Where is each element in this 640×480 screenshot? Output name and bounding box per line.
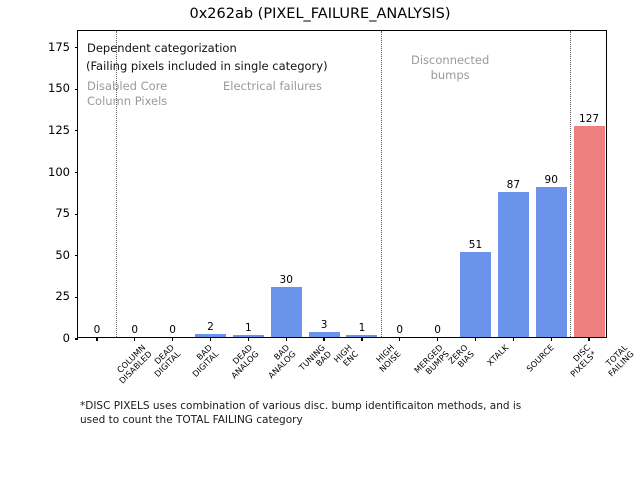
annotation-disabled-core-column-pixels: Disabled Core Column Pixels (87, 79, 167, 108)
category-separator (381, 31, 382, 337)
y-tick-mark (75, 255, 79, 256)
plot-area: 0255075100125150175 COLUMN DISABLEDDEAD … (77, 30, 607, 338)
bar-value-label: 87 (507, 179, 520, 191)
bar-value-label: 0 (396, 324, 403, 336)
x-tick-label: DEAD ANALOG (223, 343, 260, 380)
category-separator (116, 31, 117, 337)
x-tick-mark (286, 337, 287, 341)
x-tick-label: HIGH NOISE (371, 343, 402, 374)
y-tick-mark (75, 130, 79, 131)
annotation-disconnected-bumps: Disconnected bumps (411, 53, 489, 82)
x-tick-mark (475, 337, 476, 341)
x-tick-mark (361, 337, 362, 341)
x-tick-mark (134, 337, 135, 341)
bar: 2 (195, 334, 226, 337)
y-tick-mark (75, 297, 79, 298)
y-tick-label: 125 (48, 123, 70, 137)
x-tick-mark (210, 337, 211, 341)
x-tick-label: BAD DIGITAL (184, 343, 220, 379)
y-tick-label: 50 (55, 248, 70, 262)
annotation-dependent-categorization: Dependent categorization (87, 41, 237, 56)
bar-value-label: 127 (579, 113, 599, 125)
x-tick-mark (588, 337, 589, 341)
bar: 51 (460, 252, 491, 337)
x-tick-mark (323, 337, 324, 341)
footnote-text: *DISC PIXELS uses combination of various… (80, 400, 580, 428)
x-tick-label: DEAD DIGITAL (146, 343, 182, 379)
bar: 3 (309, 332, 340, 337)
y-tick-label: 25 (55, 289, 70, 303)
y-tick-label: 175 (48, 40, 70, 54)
x-tick-label: TOTAL FAILING (600, 343, 635, 378)
annotation-failing-pixels-note: (Failing pixels included in single categ… (86, 59, 328, 74)
x-tick-label: MERGED BUMPS (412, 343, 450, 381)
bar: 1 (233, 335, 264, 337)
annotation-electrical-failures: Electrical failures (223, 79, 322, 94)
bar-value-label: 51 (469, 239, 482, 251)
bar: 30 (271, 287, 302, 337)
x-tick-mark (96, 337, 97, 341)
y-tick-label: 0 (63, 331, 70, 345)
bar-value-label: 90 (545, 174, 558, 186)
x-tick-mark (172, 337, 173, 341)
bar: 87 (498, 192, 529, 337)
bar: 127 (574, 126, 605, 337)
y-tick-mark (75, 338, 79, 339)
y-tick-label: 75 (55, 206, 70, 220)
bar-value-label: 1 (245, 322, 252, 334)
y-tick-mark (75, 89, 79, 90)
y-tick-label: 150 (48, 81, 70, 95)
x-tick-mark (551, 337, 552, 341)
y-tick-mark (75, 214, 79, 215)
x-tick-label: DISC PIXELS* (563, 343, 599, 379)
bar-value-label: 0 (94, 324, 101, 336)
y-tick-mark (75, 47, 79, 48)
bar-value-label: 0 (434, 324, 441, 336)
page-title: 0x262ab (PIXEL_FAILURE_ANALYSIS) (0, 6, 640, 22)
x-tick-label: SOURCE (525, 343, 556, 374)
bar-value-label: 0 (169, 324, 176, 336)
bar-value-label: 0 (131, 324, 138, 336)
bar-value-label: 1 (359, 322, 366, 334)
pixel-failure-analysis-figure: 0x262ab (PIXEL_FAILURE_ANALYSIS) Number … (0, 0, 640, 480)
x-tick-label: HIGH ENC (332, 343, 360, 371)
y-tick-label: 100 (48, 165, 70, 179)
x-tick-label: XTALK (485, 343, 510, 368)
bar: 90 (536, 187, 567, 337)
x-tick-mark (437, 337, 438, 341)
x-tick-mark (513, 337, 514, 341)
y-tick-mark (75, 172, 79, 173)
x-tick-label: BAD ANALOG (261, 343, 298, 380)
x-tick-mark (248, 337, 249, 341)
bar-value-label: 3 (321, 319, 328, 331)
bar-value-label: 30 (280, 274, 293, 286)
x-tick-mark (399, 337, 400, 341)
bar: 1 (346, 335, 377, 337)
category-separator (570, 31, 571, 337)
x-tick-label: ZERO BIAS (446, 343, 475, 372)
x-tick-label: TUNING BAD (298, 343, 334, 379)
bar-value-label: 2 (207, 321, 214, 333)
